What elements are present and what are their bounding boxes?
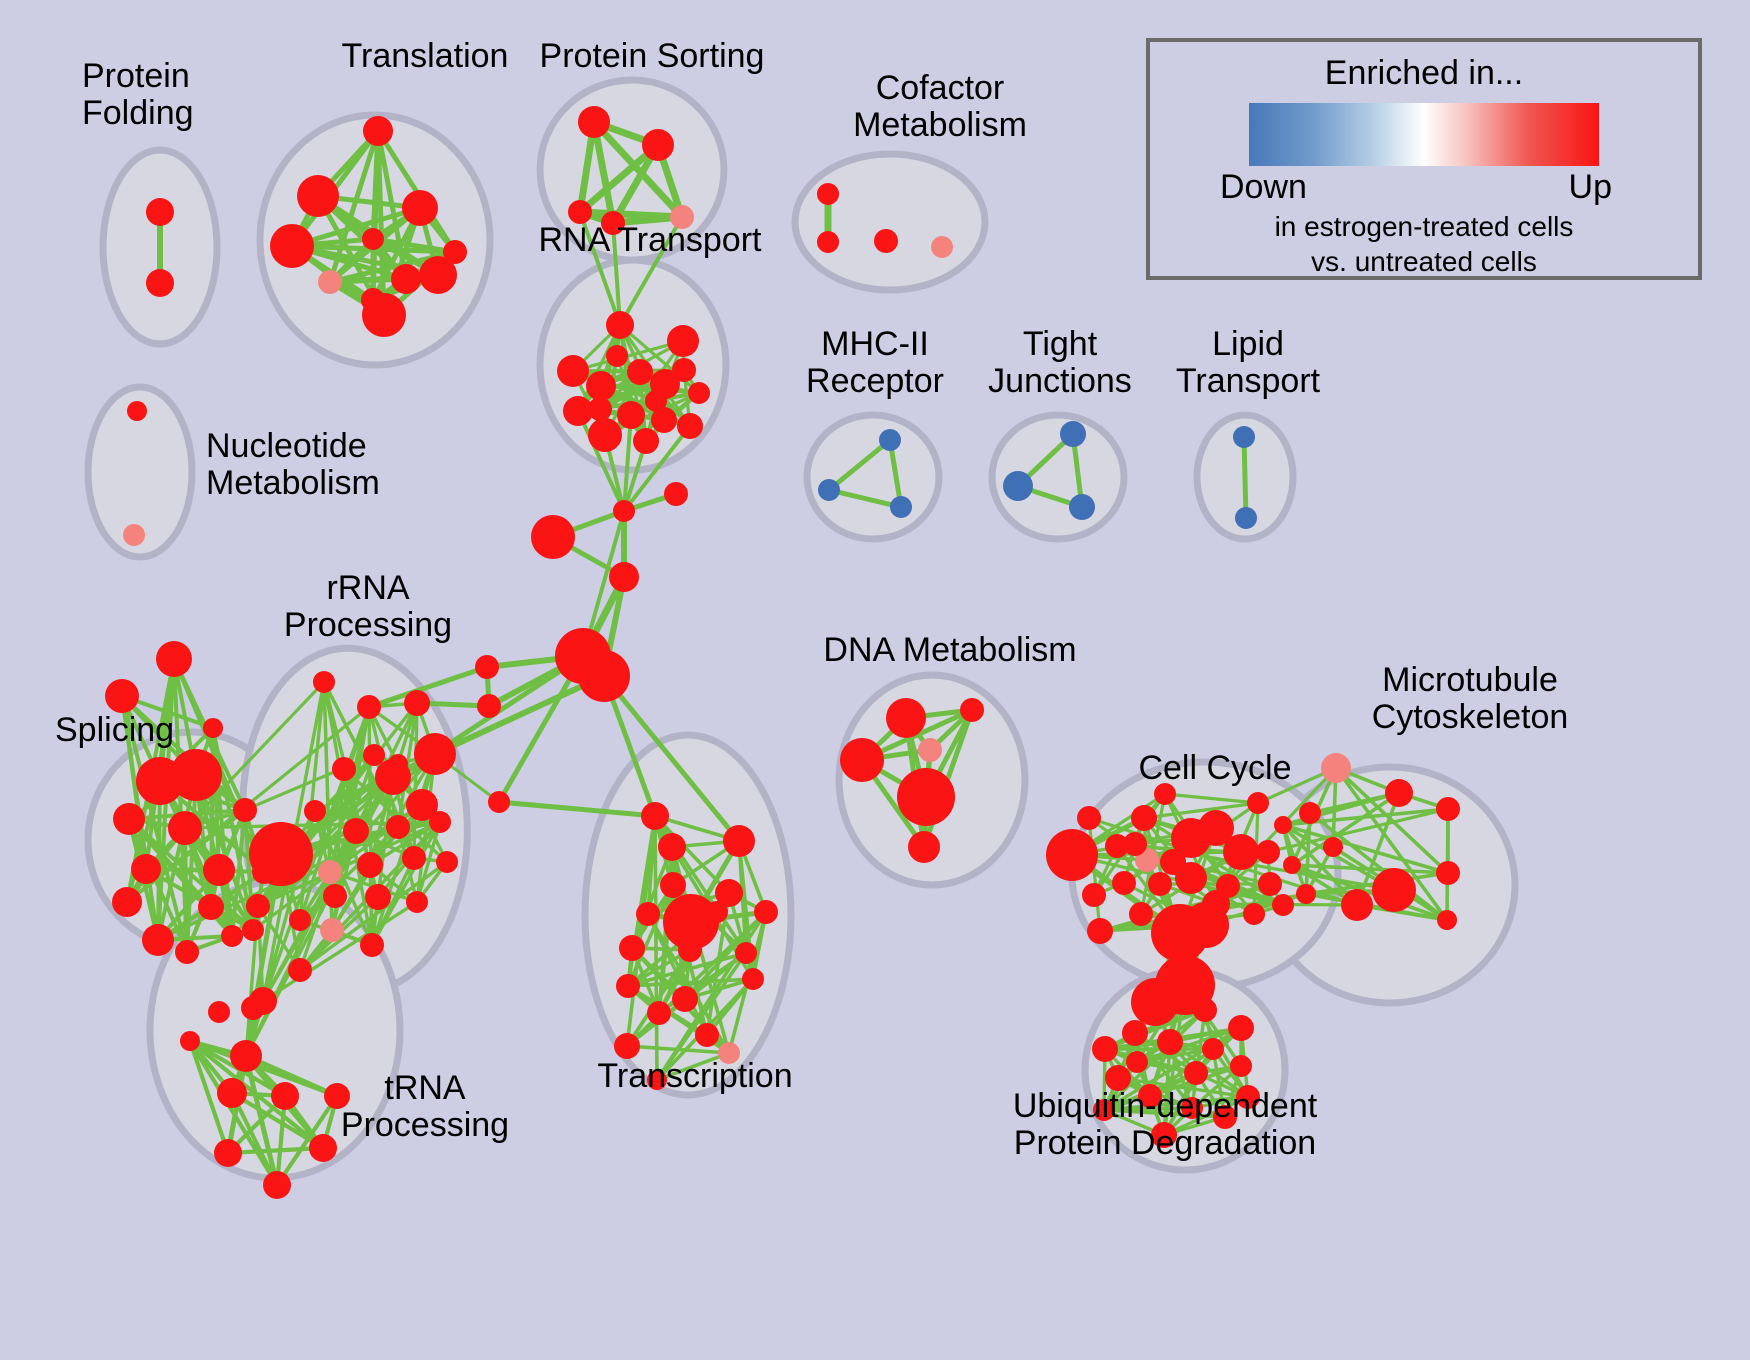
network-node bbox=[817, 231, 839, 253]
network-node bbox=[818, 479, 840, 501]
network-node bbox=[606, 311, 634, 339]
network-node bbox=[1077, 806, 1101, 830]
network-node bbox=[309, 1134, 337, 1162]
network-node bbox=[198, 894, 224, 920]
network-node bbox=[660, 872, 686, 898]
network-node bbox=[1437, 910, 1457, 930]
network-node bbox=[531, 515, 575, 559]
network-node bbox=[1296, 884, 1316, 904]
network-node bbox=[1003, 471, 1033, 501]
network-node bbox=[735, 942, 757, 964]
network-node bbox=[142, 924, 174, 956]
network-node bbox=[1129, 902, 1153, 926]
network-node bbox=[1341, 889, 1373, 921]
network-node bbox=[112, 887, 142, 917]
network-node bbox=[477, 694, 501, 718]
network-node bbox=[879, 429, 901, 451]
legend-caption-line1: in estrogen-treated cells bbox=[1150, 210, 1698, 243]
network-node bbox=[1243, 903, 1265, 925]
network-node bbox=[1321, 753, 1351, 783]
network-node bbox=[388, 754, 408, 774]
network-node bbox=[647, 1001, 671, 1025]
network-node bbox=[180, 1031, 200, 1051]
network-node bbox=[1274, 816, 1292, 834]
network-node bbox=[1385, 779, 1413, 807]
network-node bbox=[897, 768, 955, 826]
network-node bbox=[1092, 1036, 1118, 1062]
network-node bbox=[488, 791, 510, 813]
network-node bbox=[918, 738, 942, 762]
network-node bbox=[672, 986, 698, 1012]
network-node bbox=[318, 860, 342, 884]
network-node bbox=[642, 129, 674, 161]
network-node bbox=[568, 200, 592, 224]
network-node bbox=[360, 933, 384, 957]
legend-color-gradient-bar bbox=[1249, 103, 1599, 166]
network-node bbox=[131, 854, 161, 884]
network-node bbox=[1436, 861, 1460, 885]
network-node bbox=[614, 1033, 640, 1059]
network-node bbox=[1323, 837, 1343, 857]
network-node bbox=[723, 825, 755, 857]
network-node bbox=[419, 256, 457, 294]
network-node bbox=[613, 500, 635, 522]
network-node bbox=[1112, 871, 1136, 895]
network-node bbox=[1184, 1061, 1208, 1085]
network-node bbox=[324, 1083, 350, 1109]
network-node bbox=[1069, 494, 1095, 520]
network-node bbox=[931, 236, 953, 258]
network-node bbox=[908, 831, 940, 863]
network-node bbox=[1160, 849, 1186, 875]
network-node bbox=[156, 641, 192, 677]
network-node bbox=[1436, 797, 1460, 821]
network-node bbox=[297, 175, 339, 217]
network-node bbox=[323, 884, 347, 908]
network-node bbox=[402, 190, 438, 226]
network-node bbox=[1093, 1099, 1115, 1121]
network-node bbox=[695, 1023, 719, 1047]
network-node bbox=[874, 229, 898, 253]
network-node bbox=[230, 1040, 262, 1072]
network-node bbox=[402, 846, 426, 870]
network-node bbox=[363, 116, 393, 146]
network-node bbox=[1202, 890, 1230, 918]
network-node bbox=[217, 1078, 247, 1108]
network-node bbox=[667, 325, 699, 357]
network-node bbox=[1223, 834, 1259, 870]
network-node bbox=[146, 269, 174, 297]
network-node bbox=[320, 918, 344, 942]
network-node bbox=[670, 205, 694, 229]
network-node bbox=[609, 562, 639, 592]
network-node bbox=[263, 1171, 291, 1199]
network-node bbox=[627, 359, 653, 385]
network-node bbox=[1272, 894, 1294, 916]
network-node bbox=[123, 524, 145, 546]
network-node bbox=[1372, 868, 1416, 912]
network-node bbox=[1258, 872, 1282, 896]
network-node bbox=[664, 482, 688, 506]
network-node bbox=[663, 894, 719, 950]
network-node bbox=[688, 382, 710, 404]
network-node bbox=[436, 851, 458, 873]
network-node bbox=[619, 935, 645, 961]
network-node bbox=[718, 1042, 740, 1064]
network-node bbox=[391, 264, 421, 294]
network-node bbox=[242, 919, 264, 941]
network-node bbox=[1154, 783, 1176, 805]
network-node bbox=[362, 228, 384, 250]
network-node bbox=[588, 397, 612, 421]
network-node bbox=[1087, 918, 1113, 944]
network-node bbox=[1283, 856, 1301, 874]
network-node bbox=[362, 293, 406, 337]
network-node bbox=[1060, 421, 1086, 447]
network-node bbox=[840, 738, 884, 782]
network-node bbox=[221, 925, 243, 947]
network-node bbox=[170, 749, 222, 801]
network-node bbox=[886, 698, 926, 738]
network-node bbox=[332, 757, 356, 781]
network-node bbox=[1213, 1105, 1237, 1129]
network-node bbox=[203, 718, 223, 738]
network-node bbox=[658, 833, 686, 861]
network-node bbox=[270, 224, 314, 268]
network-node bbox=[127, 401, 147, 421]
network-node bbox=[241, 996, 265, 1020]
network-node bbox=[578, 106, 610, 138]
network-node bbox=[175, 940, 199, 964]
network-node bbox=[1230, 1055, 1252, 1077]
network-node bbox=[363, 744, 385, 766]
network-node bbox=[246, 894, 270, 918]
network-node bbox=[617, 401, 645, 429]
network-node bbox=[1126, 1051, 1148, 1073]
network-node bbox=[1131, 978, 1179, 1026]
legend-title: Enriched in... bbox=[1150, 54, 1698, 93]
network-node bbox=[636, 902, 660, 926]
network-node bbox=[414, 733, 456, 775]
network-node bbox=[641, 802, 669, 830]
network-node bbox=[1193, 998, 1217, 1022]
network-node bbox=[1299, 802, 1321, 824]
network-node bbox=[633, 428, 659, 454]
network-node bbox=[677, 413, 703, 439]
network-node bbox=[1082, 883, 1106, 907]
network-node bbox=[588, 418, 622, 452]
network-node bbox=[271, 1082, 299, 1110]
network-node bbox=[475, 655, 499, 679]
network-node bbox=[1256, 840, 1280, 864]
network-node bbox=[404, 690, 430, 716]
network-node bbox=[318, 270, 342, 294]
network-node bbox=[406, 891, 428, 913]
network-node bbox=[1148, 872, 1172, 896]
network-node bbox=[606, 345, 628, 367]
network-node bbox=[1202, 1038, 1224, 1060]
network-node bbox=[557, 355, 589, 387]
network-node bbox=[1157, 1029, 1183, 1055]
network-node bbox=[289, 909, 311, 931]
network-node bbox=[586, 371, 616, 401]
network-node bbox=[1235, 507, 1257, 529]
network-node bbox=[1247, 792, 1269, 814]
network-node bbox=[1233, 426, 1255, 448]
network-node bbox=[357, 852, 383, 878]
network-node bbox=[672, 358, 696, 382]
network-node bbox=[208, 1001, 230, 1023]
legend-caption-line2: vs. untreated cells bbox=[1150, 245, 1698, 278]
network-node bbox=[742, 968, 764, 990]
network-node bbox=[214, 1139, 242, 1167]
network-node bbox=[754, 900, 778, 924]
network-node bbox=[365, 884, 391, 910]
network-node bbox=[288, 958, 312, 982]
network-node bbox=[1123, 832, 1147, 856]
network-node bbox=[386, 815, 410, 839]
network-node bbox=[1181, 1097, 1203, 1119]
network-node bbox=[233, 798, 257, 822]
network-node bbox=[578, 650, 630, 702]
network-node bbox=[1138, 1084, 1162, 1108]
network-node bbox=[203, 854, 235, 886]
network-node bbox=[616, 974, 640, 998]
network-node bbox=[960, 698, 984, 722]
hull-mhc bbox=[807, 415, 939, 539]
network-node bbox=[429, 811, 451, 833]
network-node bbox=[890, 496, 912, 518]
legend-down-label: Down bbox=[1220, 168, 1307, 207]
network-node bbox=[1151, 1122, 1177, 1148]
hull-cofactor bbox=[795, 154, 985, 290]
network-node bbox=[343, 818, 369, 844]
network-node bbox=[304, 800, 326, 822]
network-node bbox=[1131, 805, 1157, 831]
network-node bbox=[645, 390, 667, 412]
network-node bbox=[105, 679, 139, 713]
network-node bbox=[1046, 829, 1098, 881]
network-node bbox=[1122, 1020, 1148, 1046]
network-node bbox=[1228, 1015, 1254, 1041]
network-figure: Protein Folding Translation Protein Sort… bbox=[0, 0, 1750, 1360]
network-node bbox=[817, 183, 839, 205]
network-node bbox=[113, 803, 145, 835]
network-node bbox=[146, 198, 174, 226]
network-node bbox=[647, 1070, 667, 1090]
network-node bbox=[357, 695, 381, 719]
legend-box: Enriched in... Down Up in estrogen-treat… bbox=[1146, 38, 1702, 280]
legend-up-label: Up bbox=[1569, 168, 1612, 207]
network-node bbox=[313, 671, 335, 693]
network-node bbox=[1105, 1065, 1131, 1091]
network-node bbox=[249, 822, 313, 886]
network-node bbox=[601, 211, 625, 235]
network-node bbox=[1236, 1085, 1260, 1109]
network-node bbox=[168, 811, 202, 845]
